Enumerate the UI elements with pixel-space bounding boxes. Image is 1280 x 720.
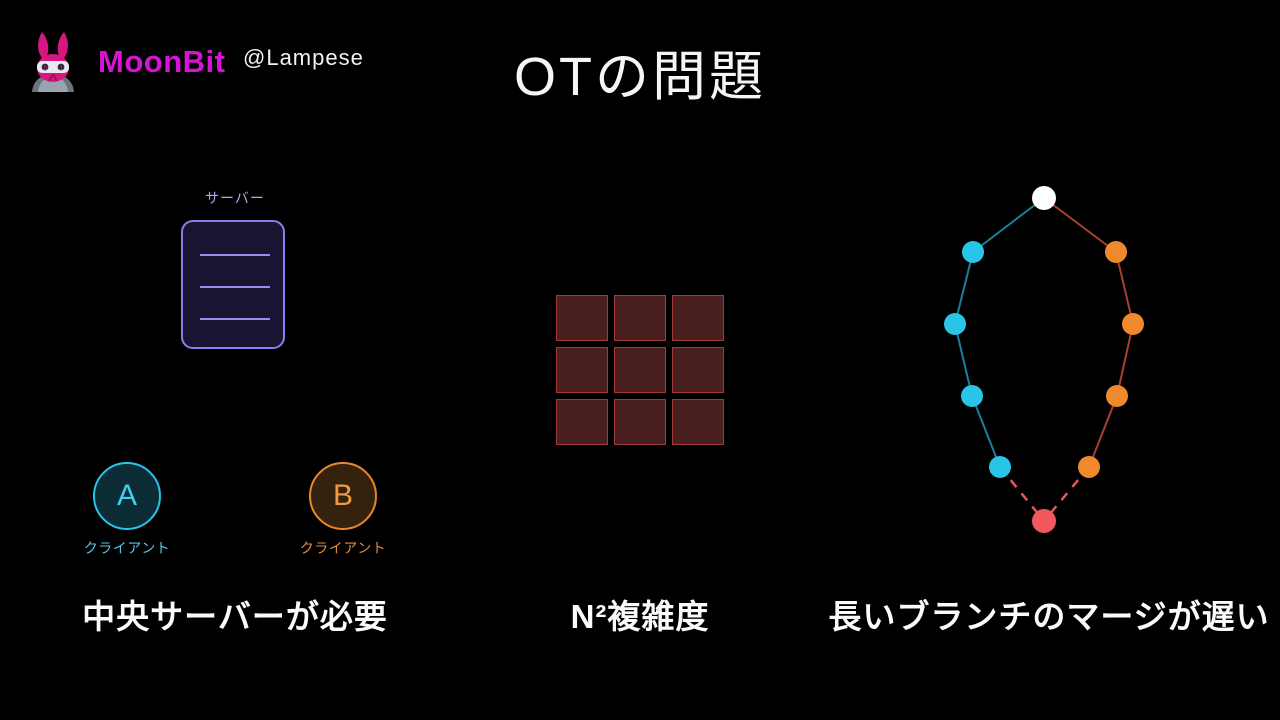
- branch-edge-right-2-to-right-3: [1117, 324, 1133, 396]
- branch-edge-root-to-right-1: [1044, 198, 1116, 252]
- grid-cell: [556, 295, 608, 341]
- grid-cell: [672, 347, 724, 393]
- caption-long-branch-merge: 長いブランチのマージが遅い: [814, 590, 1280, 638]
- server-document-icon: [181, 220, 285, 349]
- client-b-label: クライアント: [278, 538, 408, 558]
- grid-cell: [556, 347, 608, 393]
- panel-central-server: サーバー A クライアント B クライアント 中央サーバーが必要: [0, 150, 470, 650]
- branch-node-merge: [1032, 509, 1056, 533]
- branch-node-left-3: [961, 385, 983, 407]
- client-a-label: クライアント: [62, 538, 192, 558]
- branch-edge-root-to-left-1: [973, 198, 1044, 252]
- branch-edge-right-3-to-right-4: [1089, 396, 1117, 467]
- branch-node-left-1: [962, 241, 984, 263]
- grid-cell: [614, 295, 666, 341]
- panel-n2-complexity: N²複雑度: [470, 150, 810, 650]
- branch-node-right-4: [1078, 456, 1100, 478]
- slide-header: 0 1 MoonBit @Lampese OTの問題: [0, 0, 1280, 120]
- branch-graph: [810, 150, 1280, 570]
- n2-grid: [556, 295, 724, 445]
- branch-edge-left-2-to-left-3: [955, 324, 972, 396]
- document-line: [200, 318, 270, 320]
- caption-n2-complexity: N²複雑度: [470, 590, 810, 638]
- panel-long-branch-merge: 長いブランチのマージが遅い: [810, 150, 1280, 650]
- branch-nodes: [944, 186, 1144, 533]
- branch-edge-left-3-to-left-4: [972, 396, 1000, 467]
- branch-node-root: [1032, 186, 1056, 210]
- branch-node-right-1: [1105, 241, 1127, 263]
- caption-central-server: 中央サーバーが必要: [0, 590, 470, 638]
- document-line: [200, 286, 270, 288]
- grid-cell: [556, 399, 608, 445]
- document-line: [200, 254, 270, 256]
- server-label: サーバー: [0, 188, 470, 208]
- branch-node-left-2: [944, 313, 966, 335]
- client-node-a: A: [93, 462, 161, 530]
- branch-edge-left-1-to-left-2: [955, 252, 973, 324]
- grid-cell: [672, 399, 724, 445]
- branch-node-left-4: [989, 456, 1011, 478]
- branch-node-right-3: [1106, 385, 1128, 407]
- client-node-b: B: [309, 462, 377, 530]
- page-title: OTの問題: [0, 32, 1280, 111]
- branch-node-right-2: [1122, 313, 1144, 335]
- branch-edge-right-1-to-right-2: [1116, 252, 1133, 324]
- grid-cell: [672, 295, 724, 341]
- grid-cell: [614, 347, 666, 393]
- grid-cell: [614, 399, 666, 445]
